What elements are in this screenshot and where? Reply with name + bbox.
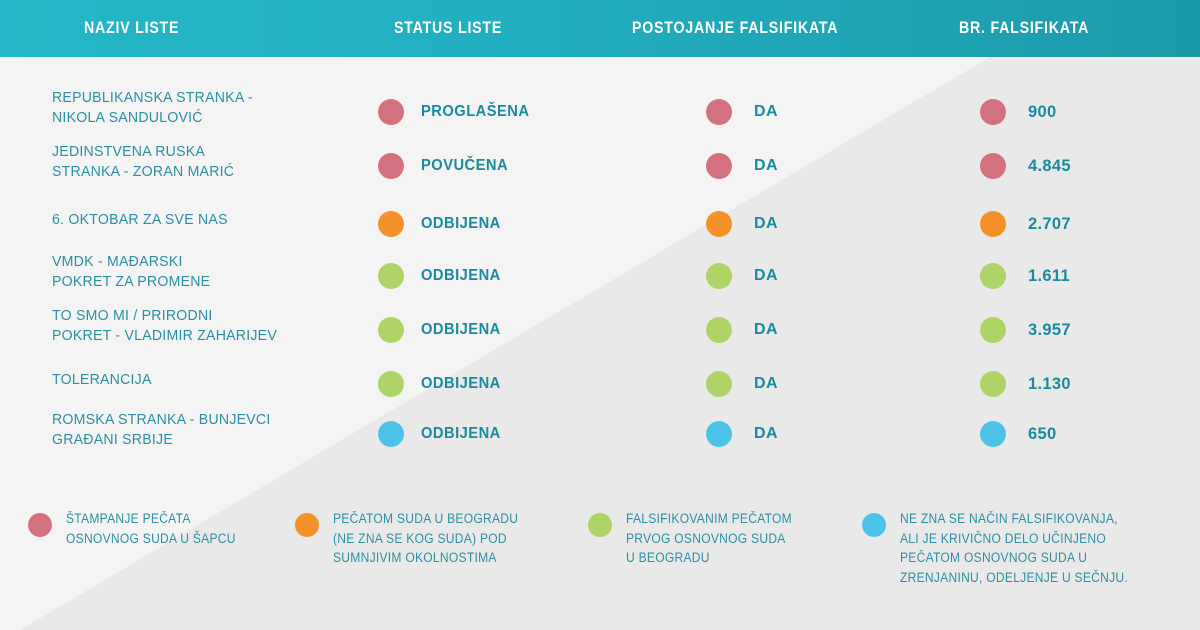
exists-label: DA (754, 103, 778, 121)
list-name: TOLERANCIJA (52, 370, 331, 390)
status-label-cell: ODBIJENA (378, 211, 508, 237)
exists-dot-icon (706, 153, 732, 179)
column-header-postojanje-falsifikata: POSTOJANJE FALSIFIKATA (632, 0, 838, 57)
count-label-cell: 3.957 (980, 317, 1071, 343)
exists-label-cell: DA (706, 99, 778, 125)
column-header-br-falsifikata: BR. FALSIFIKATA (959, 0, 1089, 57)
legend: ŠTAMPANJE PEČATA OSNOVNOG SUDA U ŠAPCUPE… (0, 500, 1200, 620)
count-dot-icon (980, 211, 1006, 237)
infographic-table: NAZIV LISTE STATUS LISTE POSTOJANJE FALS… (0, 0, 1200, 630)
count-label-cell: 1.130 (980, 371, 1071, 397)
count-label: 900 (1028, 103, 1056, 122)
table-row[interactable]: ROMSKA STRANKA - BUNJEVCIGRAĐANI SRBIJEO… (0, 409, 1200, 463)
legend-item[interactable]: ŠTAMPANJE PEČATA OSNOVNOG SUDA U ŠAPCU (28, 509, 255, 548)
status-label: ODBIJENA (421, 267, 501, 285)
status-label-cell: ODBIJENA (378, 317, 508, 343)
count-label-cell: 900 (980, 99, 1056, 125)
count-label: 650 (1028, 425, 1056, 444)
exists-dot-icon (706, 263, 732, 289)
status-dot-icon (378, 421, 404, 447)
table-row[interactable]: REPUBLIKANSKA STRANKA -NIKOLA SANDULOVIĆ… (0, 87, 1200, 141)
count-label: 3.957 (1028, 321, 1071, 340)
status-dot-icon (378, 153, 404, 179)
count-label-cell: 1.611 (980, 263, 1070, 289)
column-header-status-liste: STATUS LISTE (394, 0, 502, 57)
exists-label: DA (754, 425, 778, 443)
exists-dot-icon (706, 421, 732, 447)
status-label: POVUČENA (421, 157, 508, 175)
table-row[interactable]: VMDK - MAĐARSKIPOKRET ZA PROMENEODBIJENA… (0, 251, 1200, 305)
exists-label: DA (754, 375, 778, 393)
legend-dot-icon (295, 513, 319, 537)
status-dot-icon (378, 317, 404, 343)
legend-item[interactable]: FALSIFIKOVANIM PEČATOM PRVOG OSNOVNOG SU… (588, 509, 810, 568)
legend-dot-icon (588, 513, 612, 537)
count-dot-icon (980, 317, 1006, 343)
count-label-cell: 2.707 (980, 211, 1071, 237)
status-dot-icon (378, 371, 404, 397)
column-header-naziv-liste: NAZIV LISTE (84, 0, 179, 57)
table-row[interactable]: TOLERANCIJAODBIJENADA1.130 (0, 359, 1200, 413)
exists-dot-icon (706, 371, 732, 397)
exists-label-cell: DA (706, 263, 778, 289)
exists-dot-icon (706, 211, 732, 237)
table-header: NAZIV LISTE STATUS LISTE POSTOJANJE FALS… (0, 0, 1200, 57)
legend-label: NE ZNA SE NAČIN FALSIFIKOVANJA, ALI JE K… (900, 509, 1128, 587)
table-body: REPUBLIKANSKA STRANKA -NIKOLA SANDULOVIĆ… (0, 57, 1200, 457)
exists-label: DA (754, 215, 778, 233)
list-name: VMDK - MAĐARSKIPOKRET ZA PROMENE (52, 252, 331, 292)
table-row[interactable]: 6. OKTOBAR ZA SVE NASODBIJENADA2.707 (0, 199, 1200, 253)
status-label-cell: POVUČENA (378, 153, 516, 179)
table-row[interactable]: JEDINSTVENA RUSKASTRANKA - ZORAN MARIĆPO… (0, 141, 1200, 195)
status-dot-icon (378, 99, 404, 125)
exists-dot-icon (706, 99, 732, 125)
status-label: ODBIJENA (421, 321, 501, 339)
exists-label: DA (754, 157, 778, 175)
count-dot-icon (980, 153, 1006, 179)
status-label: ODBIJENA (421, 215, 501, 233)
exists-dot-icon (706, 317, 732, 343)
status-label: ODBIJENA (421, 425, 501, 443)
count-label: 1.611 (1028, 267, 1070, 286)
status-label: ODBIJENA (421, 375, 501, 393)
count-dot-icon (980, 263, 1006, 289)
legend-item[interactable]: NE ZNA SE NAČIN FALSIFIKOVANJA, ALI JE K… (862, 509, 1153, 587)
exists-label: DA (754, 267, 778, 285)
status-dot-icon (378, 211, 404, 237)
list-name: REPUBLIKANSKA STRANKA -NIKOLA SANDULOVIĆ (52, 88, 331, 128)
exists-label-cell: DA (706, 421, 778, 447)
count-label: 2.707 (1028, 215, 1071, 234)
exists-label: DA (754, 321, 778, 339)
count-label-cell: 650 (980, 421, 1056, 447)
count-label-cell: 4.845 (980, 153, 1071, 179)
legend-label: PEČATOM SUDA U BEOGRADU (NE ZNA SE KOG S… (333, 509, 518, 568)
status-label-cell: PROGLAŠENA (378, 99, 539, 125)
list-name: TO SMO MI / PRIRODNIPOKRET - VLADIMIR ZA… (52, 306, 331, 346)
exists-label-cell: DA (706, 317, 778, 343)
list-name: JEDINSTVENA RUSKASTRANKA - ZORAN MARIĆ (52, 142, 331, 182)
legend-label: ŠTAMPANJE PEČATA OSNOVNOG SUDA U ŠAPCU (66, 509, 236, 548)
status-label-cell: ODBIJENA (378, 263, 508, 289)
legend-dot-icon (862, 513, 886, 537)
table-row[interactable]: TO SMO MI / PRIRODNIPOKRET - VLADIMIR ZA… (0, 305, 1200, 359)
count-label: 4.845 (1028, 157, 1071, 176)
exists-label-cell: DA (706, 211, 778, 237)
exists-label-cell: DA (706, 153, 778, 179)
list-name: 6. OKTOBAR ZA SVE NAS (52, 210, 331, 230)
legend-item[interactable]: PEČATOM SUDA U BEOGRADU (NE ZNA SE KOG S… (295, 509, 539, 568)
status-dot-icon (378, 263, 404, 289)
exists-label-cell: DA (706, 371, 778, 397)
legend-dot-icon (28, 513, 52, 537)
status-label: PROGLAŠENA (421, 103, 529, 121)
legend-label: FALSIFIKOVANIM PEČATOM PRVOG OSNOVNOG SU… (626, 509, 792, 568)
list-name: ROMSKA STRANKA - BUNJEVCIGRAĐANI SRBIJE (52, 410, 331, 450)
count-label: 1.130 (1028, 375, 1071, 394)
status-label-cell: ODBIJENA (378, 421, 508, 447)
status-label-cell: ODBIJENA (378, 371, 508, 397)
count-dot-icon (980, 371, 1006, 397)
count-dot-icon (980, 421, 1006, 447)
count-dot-icon (980, 99, 1006, 125)
